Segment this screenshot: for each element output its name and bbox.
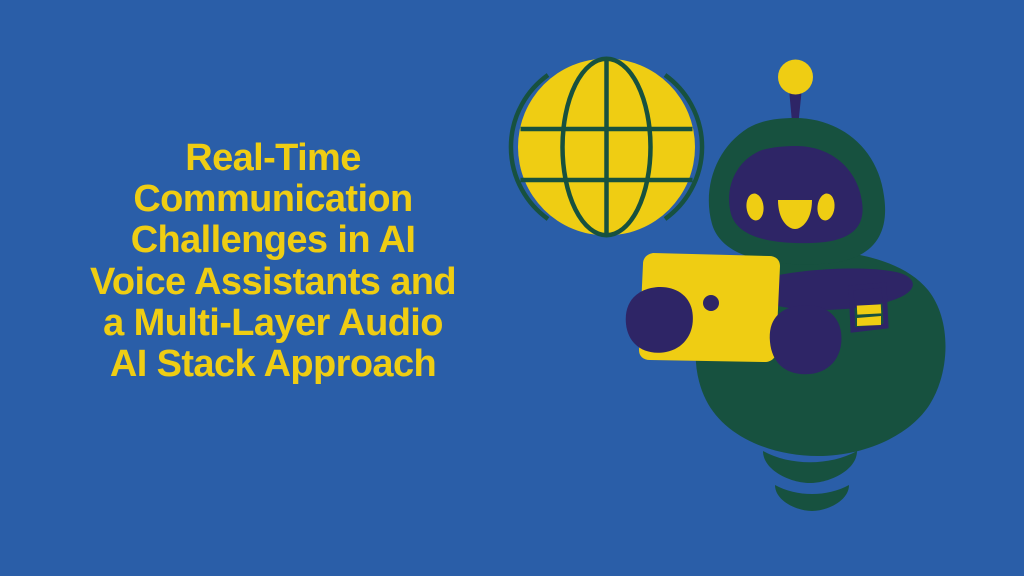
laptop-camera-dot [703, 295, 719, 311]
robot-left-hand [626, 287, 693, 353]
robot-right-hand [770, 305, 842, 374]
banner-canvas: Real-Time Communication Challenges in AI… [0, 0, 1024, 576]
title-block: Real-Time Communication Challenges in AI… [34, 138, 512, 385]
robot-antenna [778, 60, 813, 123]
antenna-bulb [778, 60, 813, 95]
page-title: Real-Time Communication Challenges in AI… [34, 138, 512, 385]
wave-arc-lower [775, 485, 849, 511]
robot-hover-waves [763, 451, 857, 511]
badge-bar-upper [857, 304, 881, 314]
globe-icon [511, 59, 702, 236]
